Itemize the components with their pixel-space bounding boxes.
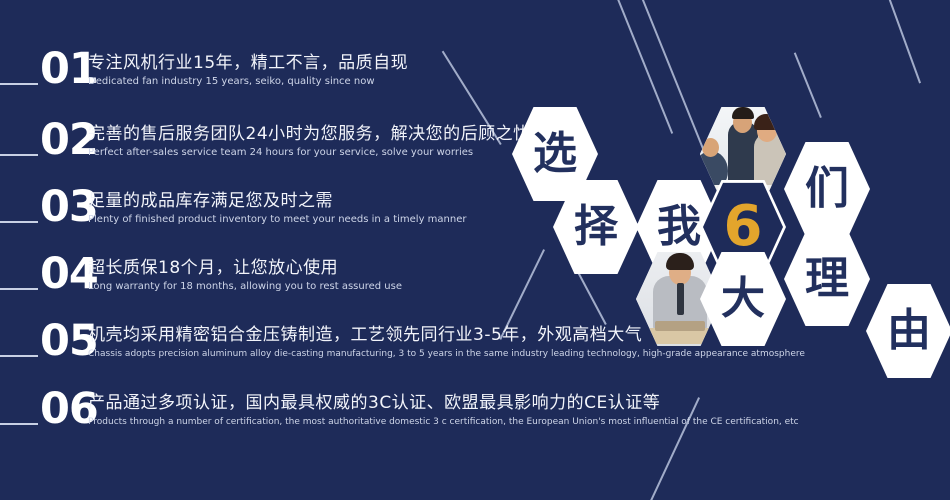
reason-title-cn: 超长质保18个月，让您放心使用 [88, 257, 402, 279]
reason-title-cn: 机壳均采用精密铝合金压铸制造，工艺领先同行业3-5年，外观高档大气 [88, 324, 805, 346]
reason-title-en: Long warranty for 18 months, allowing yo… [88, 280, 402, 294]
reason-title-en: Plenty of finished product inventory to … [88, 213, 466, 227]
reason-title-cn: 足量的成品库存满足您及时之需 [88, 190, 466, 212]
reason-title-en: Dedicated fan industry 15 years, seiko, … [88, 75, 408, 89]
bullet-rule [0, 423, 38, 425]
bullet-rule [0, 355, 38, 357]
reason-title-cn: 完善的售后服务团队24小时为您服务，解决您的后顾之忧 [88, 123, 531, 145]
reason-title-cn: 专注风机行业15年，精工不言，品质自现 [88, 52, 408, 74]
bullet-rule [0, 288, 38, 290]
reason-title-en: Products through a number of certificati… [88, 415, 799, 429]
reason-list: 01 专注风机行业15年，精工不言，品质自现 Dedicated fan ind… [0, 0, 700, 500]
reason-title-en: Perfect after-sales service team 24 hour… [88, 146, 531, 160]
promo-banner: 01 专注风机行业15年，精工不言，品质自现 Dedicated fan ind… [0, 0, 950, 500]
bullet-rule [0, 221, 38, 223]
reason-title-en: Chassis adopts precision aluminum alloy … [88, 347, 805, 361]
diagonal-line-8 [878, 0, 921, 83]
bullet-rule [0, 83, 38, 85]
bullet-rule [0, 154, 38, 156]
reason-title-cn: 产品通过多项认证，国内最具权威的3C认证、欧盟最具影响力的CE认证等 [88, 392, 799, 414]
diagonal-line-3 [794, 52, 822, 118]
